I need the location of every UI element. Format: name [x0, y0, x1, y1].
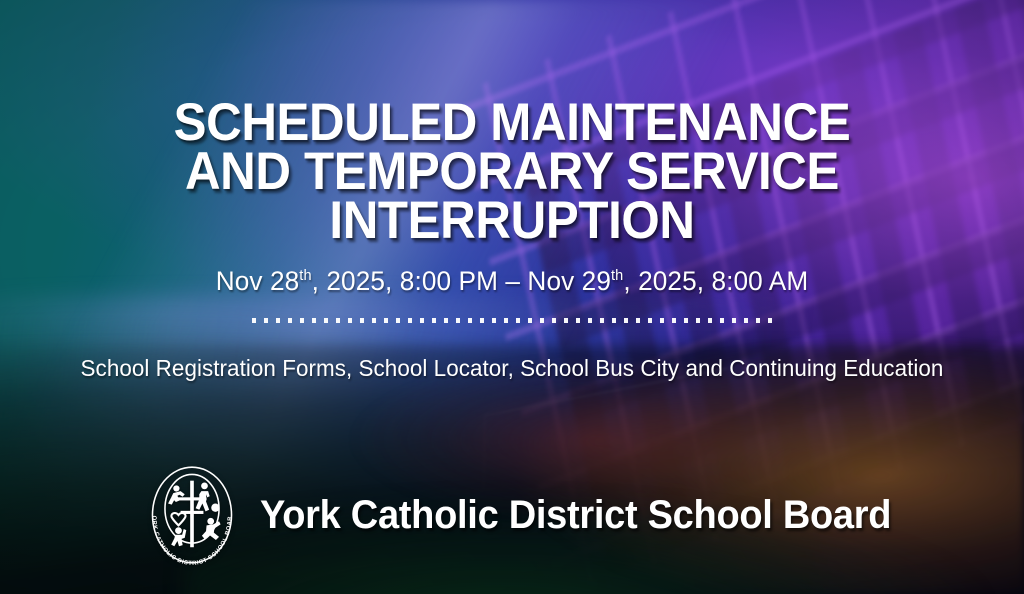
ycdsb-logo-icon: YORK CATHOLIC DISTRICT SCHOOL BOARD — [140, 463, 244, 567]
banner-content: SCHEDULED MAINTENANCE AND TEMPORARY SERV… — [0, 0, 1024, 594]
dotted-divider — [252, 318, 778, 323]
start-date-ordinal: th — [299, 267, 311, 284]
maintenance-notice-banner: SCHEDULED MAINTENANCE AND TEMPORARY SERV… — [0, 0, 1024, 594]
headline-line-3: INTERRUPTION — [36, 196, 988, 245]
headline-line-1: SCHEDULED MAINTENANCE — [36, 98, 988, 147]
banner-headline: SCHEDULED MAINTENANCE AND TEMPORARY SERV… — [36, 98, 988, 245]
end-date: Nov 29 — [527, 266, 611, 296]
end-date-ordinal: th — [611, 267, 623, 284]
maintenance-window: Nov 28th, 2025, 8:00 PM – Nov 29th, 2025… — [15, 266, 1008, 297]
start-date: Nov 28 — [216, 266, 300, 296]
headline-line-2: AND TEMPORARY SERVICE — [36, 147, 988, 196]
end-date-rest: , 2025, 8:00 AM — [623, 266, 808, 296]
organization-branding: YORK CATHOLIC DISTRICT SCHOOL BOARD York… — [140, 463, 924, 567]
start-date-rest: , 2025, 8:00 PM — [312, 266, 498, 296]
affected-services-text: School Registration Forms, School Locato… — [13, 355, 1011, 382]
date-range-separator: – — [498, 266, 527, 296]
board-name-text: York Catholic District School Board — [260, 493, 891, 538]
logo-ring-text: YORK CATHOLIC DISTRICT SCHOOL BOARD — [140, 463, 234, 567]
